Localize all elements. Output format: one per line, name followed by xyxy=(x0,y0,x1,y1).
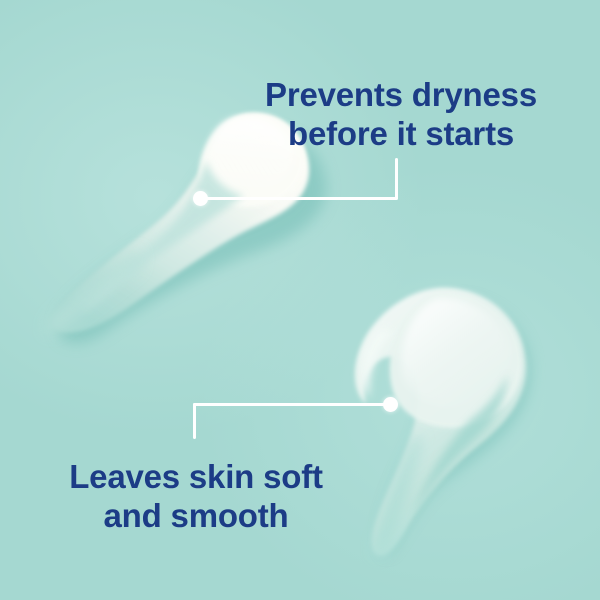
product-claim-graphic: Prevents dryness before it starts Leaves… xyxy=(0,0,600,600)
claim-text-bottom: Leaves skin soft and smooth xyxy=(36,458,356,535)
callout-leader-vertical-top xyxy=(395,158,398,199)
callout-leader-horizontal-bottom xyxy=(193,403,390,406)
claim-text-top: Prevents dryness before it starts xyxy=(236,76,566,153)
moisturizer-swatch-lower xyxy=(355,288,531,556)
callout-leader-horizontal-top xyxy=(200,197,398,200)
callout-leader-vertical-bottom xyxy=(193,403,196,439)
